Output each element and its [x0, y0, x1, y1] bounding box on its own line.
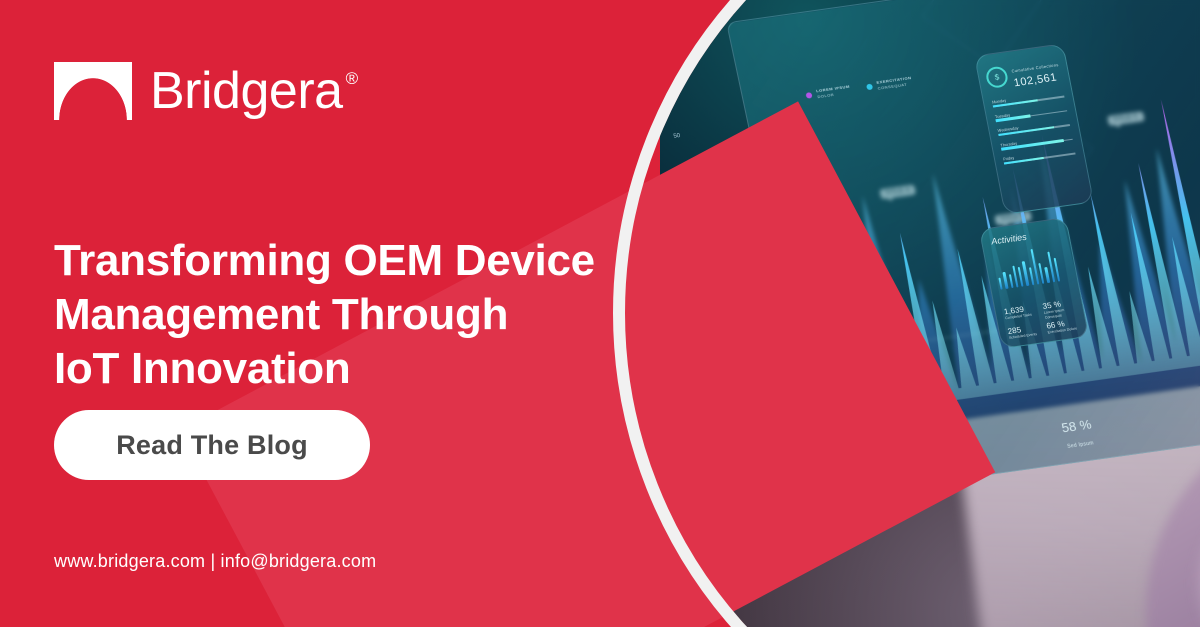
progress-row: Monday	[992, 90, 1065, 107]
legend-subtitle: DOLOR	[817, 92, 835, 99]
card-stat: 285 Scheduled Events	[1007, 323, 1040, 341]
bar	[1029, 267, 1035, 285]
footer-stat: 58 % Sed Ipsum	[1060, 416, 1096, 452]
bar	[1008, 274, 1013, 288]
legend-dot-icon	[805, 92, 812, 99]
card-stats: 1,639 Completed Tasks 35 % Lorem Ipsum C…	[1003, 298, 1083, 341]
progress-row: Thursday	[1000, 132, 1073, 149]
card-stat: 35 % Lorem Ipsum Consequat	[1042, 298, 1076, 320]
legend-item: EXERCITATION CONSEQUAT	[865, 75, 913, 93]
legend-label: EXERCITATION CONSEQUAT	[876, 75, 913, 92]
headline-line-2: Management Through	[54, 290, 508, 339]
bar	[1003, 272, 1009, 289]
content-column: Bridgera ® Transforming OEM Device Manag…	[0, 0, 660, 627]
registered-trademark-icon: ®	[346, 70, 359, 87]
progress-row: Tuesday	[994, 104, 1067, 121]
card-stat: 1,639 Completed Tasks	[1003, 304, 1037, 326]
progress-row: Wednesday	[997, 118, 1070, 135]
brand-name: Bridgera	[150, 62, 343, 120]
card-bar-chart	[994, 246, 1061, 290]
contact-footer[interactable]: www.bridgera.com | info@bridgera.com	[54, 551, 376, 572]
legend-dot-icon	[866, 84, 873, 91]
headline-line-3: IoT Innovation	[54, 344, 350, 393]
dollar-shield-icon: $	[984, 65, 1009, 89]
marketing-banner: COMMUNITY CONTACT US Lorem ipsum dolor s…	[0, 0, 1200, 627]
y-tick: 50	[673, 134, 681, 141]
footer-stat-value: 58 %	[1060, 416, 1093, 435]
bar	[998, 278, 1002, 290]
bar	[1045, 267, 1050, 283]
brand-logo[interactable]: Bridgera ®	[54, 62, 358, 120]
read-the-blog-button[interactable]: Read The Blog	[54, 410, 370, 480]
bar	[1054, 258, 1061, 282]
dashboard-legend: LOREM IPSUM DOLOR EXERCITATION CONSEQUAT	[805, 75, 914, 102]
card-stat: 66 % Exercitation Dolore	[1046, 318, 1079, 336]
footer-stat-label: Sed Ipsum	[1067, 440, 1095, 450]
bridgera-dome-mark-icon	[54, 62, 132, 120]
page-title: Transforming OEM Device Management Throu…	[54, 234, 614, 395]
headline-line-1: Transforming OEM Device	[54, 236, 595, 285]
legend-item: LOREM IPSUM DOLOR	[805, 84, 852, 102]
bar	[1022, 261, 1029, 286]
progress-row: Friday	[1003, 147, 1076, 164]
legend-label: LOREM IPSUM DOLOR	[816, 84, 852, 100]
bar	[1038, 263, 1044, 284]
card-progress-rows: MondayTuesdayWednesdayThursdayFriday	[983, 84, 1086, 177]
